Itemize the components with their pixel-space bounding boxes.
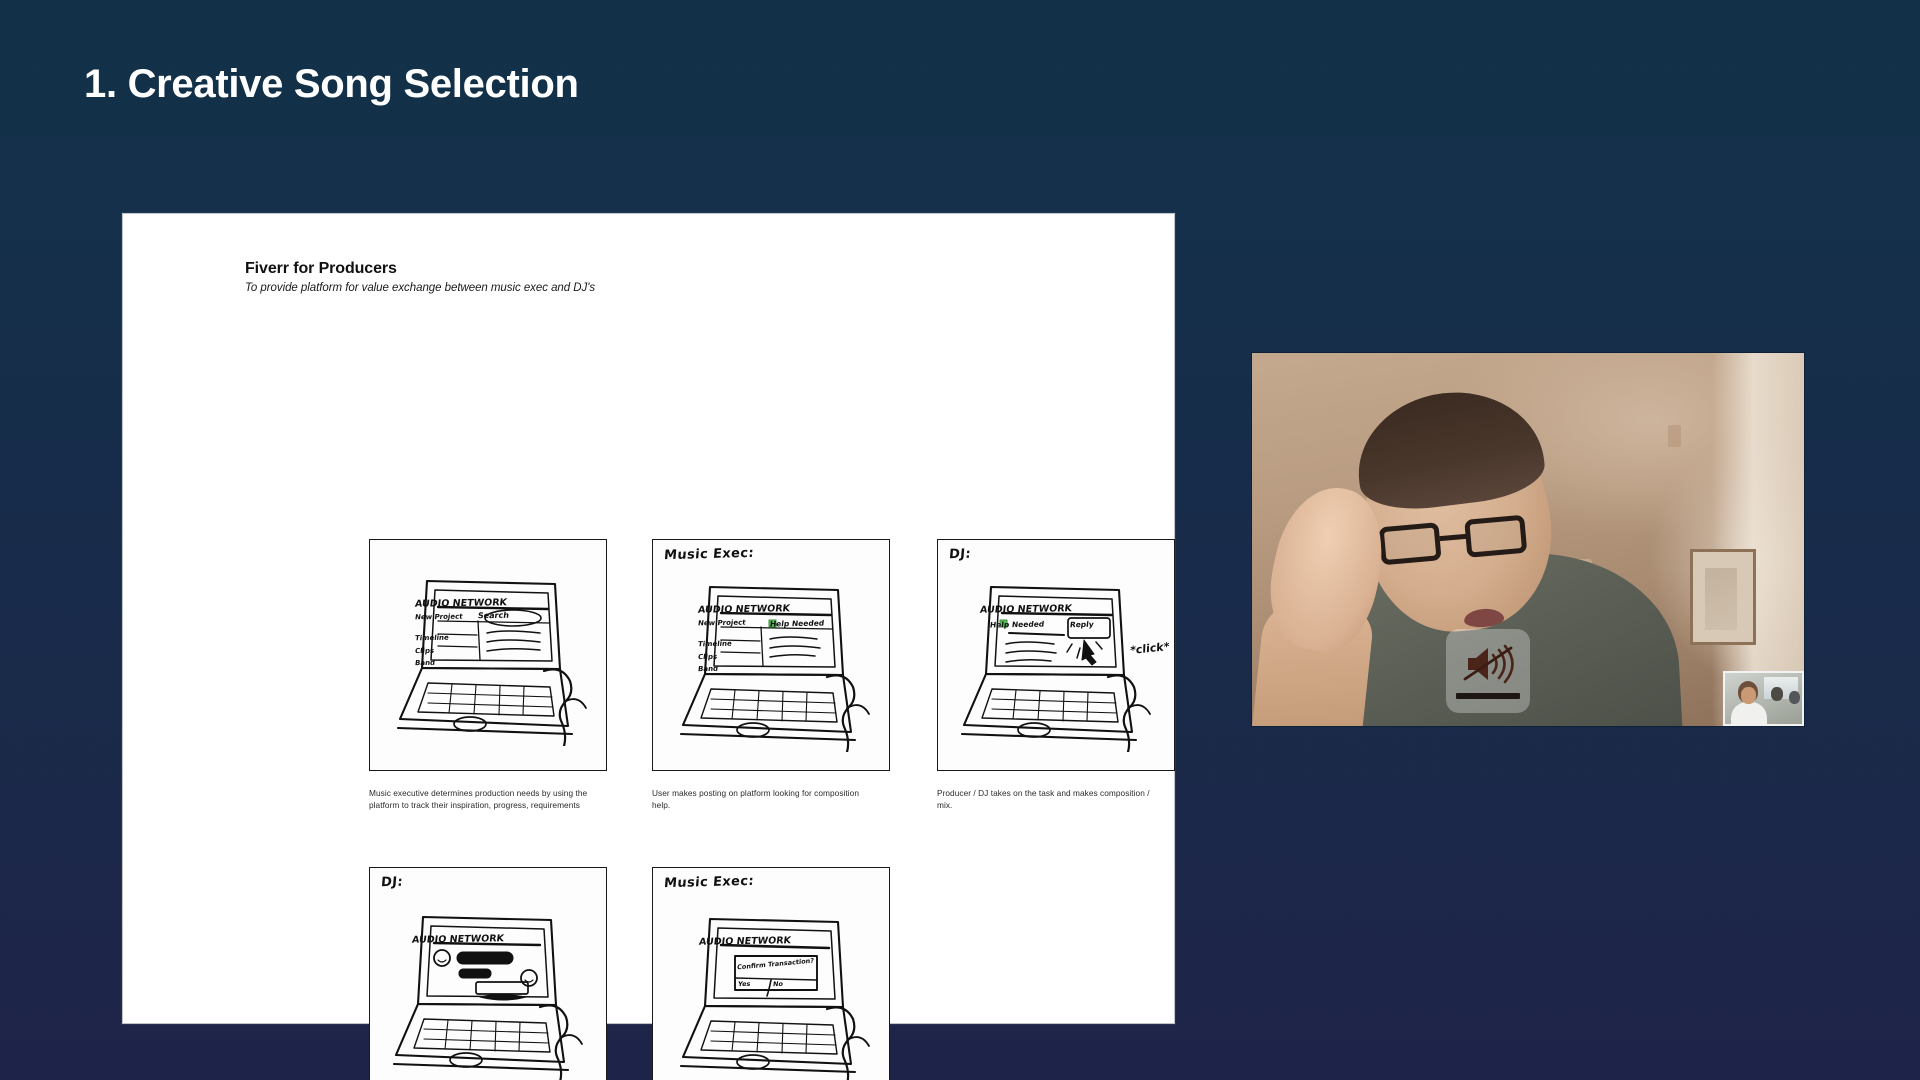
- panel-caption: Producer / DJ takes on the task and make…: [937, 787, 1164, 811]
- panel-nav-item-new-project: New Project: [414, 613, 463, 622]
- volume-level-bar: [1456, 693, 1520, 699]
- wall-picture-frame: [1690, 549, 1756, 645]
- panel-nav-item-clips: Clips: [414, 647, 434, 655]
- panel-reply-button: Reply: [1069, 620, 1094, 629]
- storyboard-cell: Music Exec:: [652, 867, 890, 1080]
- video-participant-tile[interactable]: [1251, 352, 1805, 727]
- page-title: 1. Creative Song Selection: [84, 62, 579, 107]
- panel-nav-item-timeline: Timeline: [414, 634, 449, 643]
- panel-screen-header: AUDIO NETWORK: [414, 597, 507, 610]
- panel-caption: User makes posting on platform looking f…: [652, 787, 879, 811]
- panel-label: DJ:: [948, 547, 971, 563]
- picture-in-picture-thumbnail[interactable]: [1723, 671, 1804, 726]
- storyboard-cell: DJ:: [369, 867, 607, 1080]
- wall-fixture: [1668, 425, 1681, 447]
- panel-caption: Music executive determines production ne…: [369, 787, 596, 811]
- panel-screen-header: AUDIO NETWORK: [697, 603, 790, 616]
- panel-list-item-help-needed: Help Needed: [989, 620, 1044, 630]
- storyboard-panel: DJ:: [369, 867, 607, 1080]
- speaker-muted-icon: [1462, 643, 1514, 685]
- storyboard-panel: Music Exec:: [652, 539, 890, 771]
- panel-nav-item-clips: Clips: [697, 653, 717, 661]
- pip-person-face: [1741, 687, 1756, 704]
- pip-person-body: [1731, 702, 1767, 724]
- panel-label: Music Exec:: [663, 546, 754, 563]
- panel-label: DJ:: [380, 875, 403, 891]
- panel-screen-header: AUDIO NETWORK: [698, 935, 791, 948]
- document-header: Fiverr for Producers To provide platform…: [245, 260, 1145, 294]
- storyboard-panel: AUDIO NETWORK New Project Timeline Clips…: [369, 539, 607, 771]
- document-canvas: Fiverr for Producers To provide platform…: [122, 213, 1175, 1024]
- storyboard-panel: Music Exec:: [652, 867, 890, 1080]
- storyboard-panel: DJ: *click*: [937, 539, 1175, 771]
- volume-muted-overlay: [1446, 629, 1530, 713]
- panel-dialog-yes-button: Yes: [737, 980, 750, 988]
- panel-label: Music Exec:: [663, 874, 754, 891]
- document-title: Fiverr for Producers: [245, 260, 1145, 278]
- storyboard-cell: AUDIO NETWORK New Project Timeline Clips…: [369, 539, 607, 811]
- panel-nav-item-band: Band: [697, 665, 718, 673]
- pip-person-secondary: [1771, 687, 1783, 701]
- panel-nav-item-new-project: New Project: [697, 619, 746, 628]
- storyboard-cell: DJ: *click*: [937, 539, 1175, 811]
- panel-screen-header: AUDIO NETWORK: [979, 603, 1072, 616]
- pip-person-tertiary: [1789, 691, 1800, 704]
- panel-nav-item-timeline: Timeline: [697, 640, 732, 649]
- panel-list-item-help-needed: Help Needed: [769, 619, 824, 629]
- document-subtitle: To provide platform for value exchange b…: [245, 282, 1145, 294]
- panel-screen-header: AUDIO NETWORK: [411, 933, 504, 946]
- panel-dialog-no-button: No: [772, 980, 783, 988]
- panel-nav-item-band: Band: [414, 659, 435, 667]
- panel-search-button: Search: [477, 611, 509, 621]
- storyboard-cell: Music Exec:: [652, 539, 890, 811]
